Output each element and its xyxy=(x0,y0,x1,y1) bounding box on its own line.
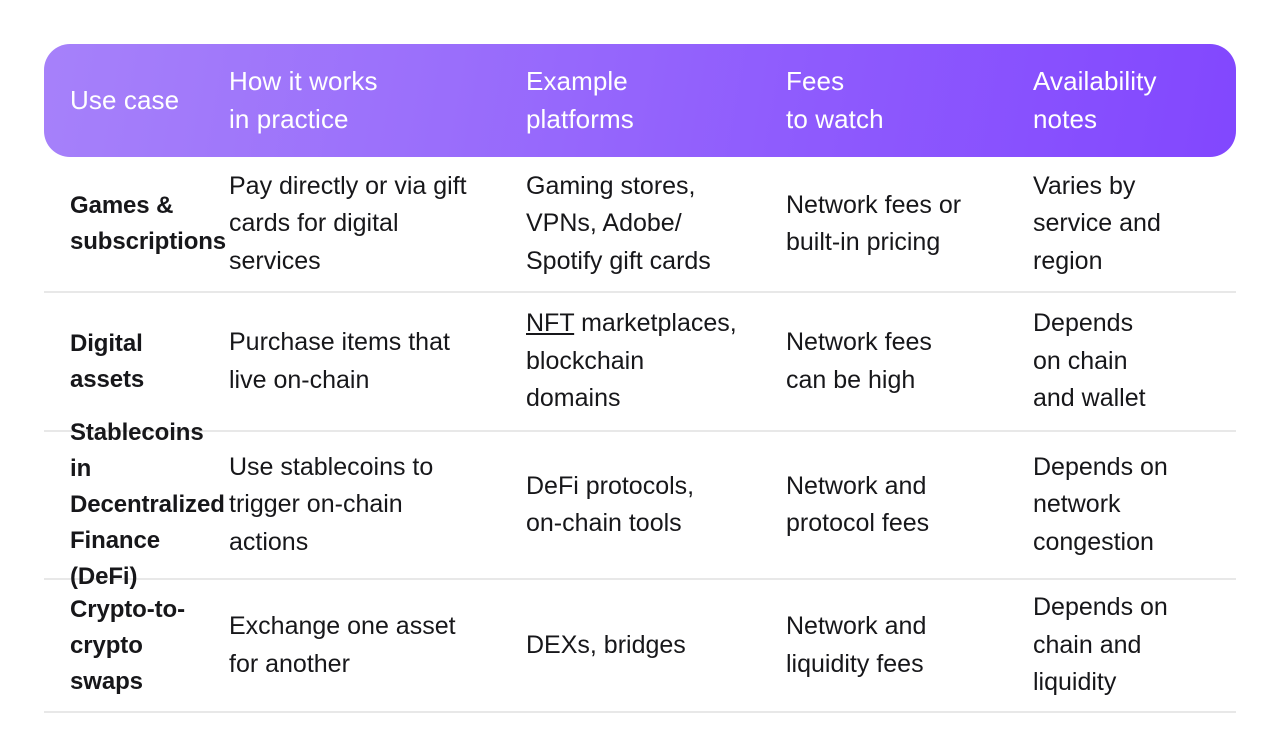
cell-use-case: Stablecoins in Decentralized Finance (De… xyxy=(44,432,229,578)
table-row: Games & subscriptions Pay directly or vi… xyxy=(44,157,1236,293)
table-row: Crypto-to- crypto swaps Exchange one ass… xyxy=(44,580,1236,713)
cell-text: Depends on network congestion xyxy=(1033,449,1168,562)
cell-fees: Network fees can be high xyxy=(786,293,1033,430)
cell-use-case: Digital assets xyxy=(44,293,229,430)
cell-text-with-link: NFT marketplaces, blockchain domains xyxy=(526,305,737,418)
cell-availability: Depends on chain and wallet xyxy=(1033,293,1236,430)
cell-text: Network fees or built-in pricing xyxy=(786,187,961,262)
cell-text: Games & subscriptions xyxy=(70,188,226,260)
nft-link[interactable]: NFT xyxy=(526,309,574,337)
column-header-label: Use case xyxy=(70,82,179,120)
cell-text: DEXs, bridges xyxy=(526,627,686,665)
column-header-label: Fees to watch xyxy=(786,63,884,139)
cell-fees: Network and protocol fees xyxy=(786,432,1033,578)
cell-text: Gaming stores, VPNs, Adobe/ Spotify gift… xyxy=(526,168,711,281)
comparison-table: Use case How it works in practice Exampl… xyxy=(44,44,1236,713)
cell-text: Use stablecoins to trigger on-chain acti… xyxy=(229,449,433,562)
cell-how-it-works: Purchase items that live on-chain xyxy=(229,293,526,430)
cell-text: Stablecoins in Decentralized Finance (De… xyxy=(70,415,225,595)
cell-text: Network fees can be high xyxy=(786,324,932,399)
cell-example-platforms: DeFi protocols, on-chain tools xyxy=(526,432,786,578)
column-header-label: How it works in practice xyxy=(229,63,378,139)
cell-text: Network and liquidity fees xyxy=(786,608,926,683)
cell-text: Varies by service and region xyxy=(1033,168,1161,281)
cell-use-case: Games & subscriptions xyxy=(44,157,229,291)
table-header-row: Use case How it works in practice Exampl… xyxy=(44,44,1236,157)
column-header-use-case: Use case xyxy=(44,44,229,157)
cell-use-case: Crypto-to- crypto swaps xyxy=(44,580,229,711)
cell-text: Crypto-to- crypto swaps xyxy=(70,592,221,700)
cell-how-it-works: Exchange one asset for another xyxy=(229,580,526,711)
column-header-label: Example platforms xyxy=(526,63,634,139)
cell-example-platforms: NFT marketplaces, blockchain domains xyxy=(526,293,786,430)
column-header-how-it-works: How it works in practice xyxy=(229,44,526,157)
cell-availability: Depends on network congestion xyxy=(1033,432,1236,578)
cell-availability: Depends on chain and liquidity xyxy=(1033,580,1236,711)
table-row: Digital assets Purchase items that live … xyxy=(44,293,1236,432)
cell-example-platforms: DEXs, bridges xyxy=(526,580,786,711)
cell-example-platforms: Gaming stores, VPNs, Adobe/ Spotify gift… xyxy=(526,157,786,291)
cell-text: DeFi protocols, on-chain tools xyxy=(526,468,694,543)
cell-fees: Network and liquidity fees xyxy=(786,580,1033,711)
cell-fees: Network fees or built-in pricing xyxy=(786,157,1033,291)
column-header-availability: Availability notes xyxy=(1033,44,1236,157)
cell-text: Exchange one asset for another xyxy=(229,608,456,683)
table-body: Games & subscriptions Pay directly or vi… xyxy=(44,157,1236,713)
cell-how-it-works: Use stablecoins to trigger on-chain acti… xyxy=(229,432,526,578)
cell-availability: Varies by service and region xyxy=(1033,157,1236,291)
cell-text: Purchase items that live on-chain xyxy=(229,324,450,399)
cell-how-it-works: Pay directly or via gift cards for digit… xyxy=(229,157,526,291)
cell-text: Depends on chain and liquidity xyxy=(1033,589,1168,702)
column-header-example-platforms: Example platforms xyxy=(526,44,786,157)
cell-text: Digital assets xyxy=(70,326,144,398)
cell-text: Pay directly or via gift cards for digit… xyxy=(229,168,467,281)
table-row: Stablecoins in Decentralized Finance (De… xyxy=(44,432,1236,580)
cell-text: Depends on chain and wallet xyxy=(1033,305,1146,418)
column-header-fees: Fees to watch xyxy=(786,44,1033,157)
cell-text: Network and protocol fees xyxy=(786,468,929,543)
column-header-label: Availability notes xyxy=(1033,63,1157,139)
